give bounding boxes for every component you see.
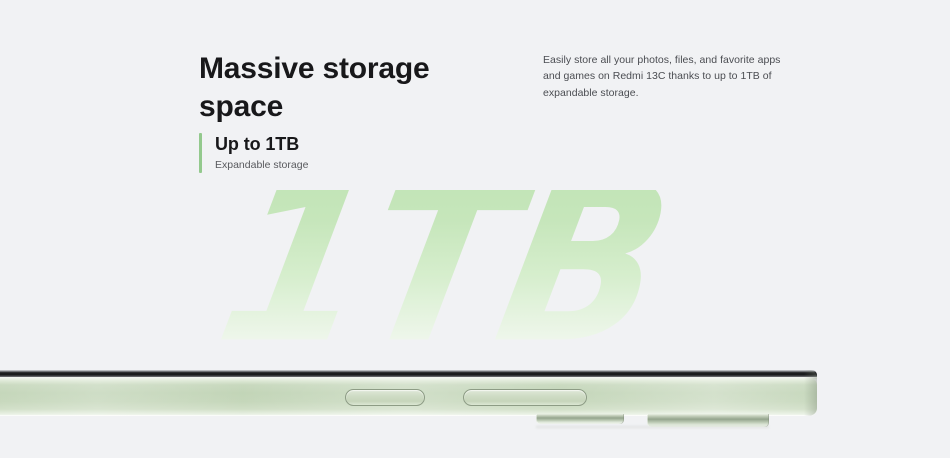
- spec-text-group: Up to 1TB Expandable storage: [202, 133, 308, 173]
- description-text: Easily store all your photos, files, and…: [543, 52, 781, 102]
- page-title: Massive storage space: [199, 50, 519, 127]
- volume-rocker: [463, 389, 587, 406]
- power-button: [345, 389, 425, 406]
- phone-frame-right-cap: [804, 370, 817, 416]
- spec-label: Expandable storage: [215, 158, 308, 174]
- spec-callout: Up to 1TB Expandable storage: [199, 133, 308, 173]
- spec-value: Up to 1TB: [215, 133, 308, 156]
- storage-watermark-text: 1TB: [205, 190, 681, 374]
- camera-drop-shadow: [536, 426, 769, 429]
- phone-side-profile-image: [0, 368, 817, 430]
- watermark-container: 1TB: [0, 190, 950, 385]
- camera-ring-small: [536, 414, 624, 424]
- storage-feature-banner: Massive storage space Easily store all y…: [0, 0, 950, 458]
